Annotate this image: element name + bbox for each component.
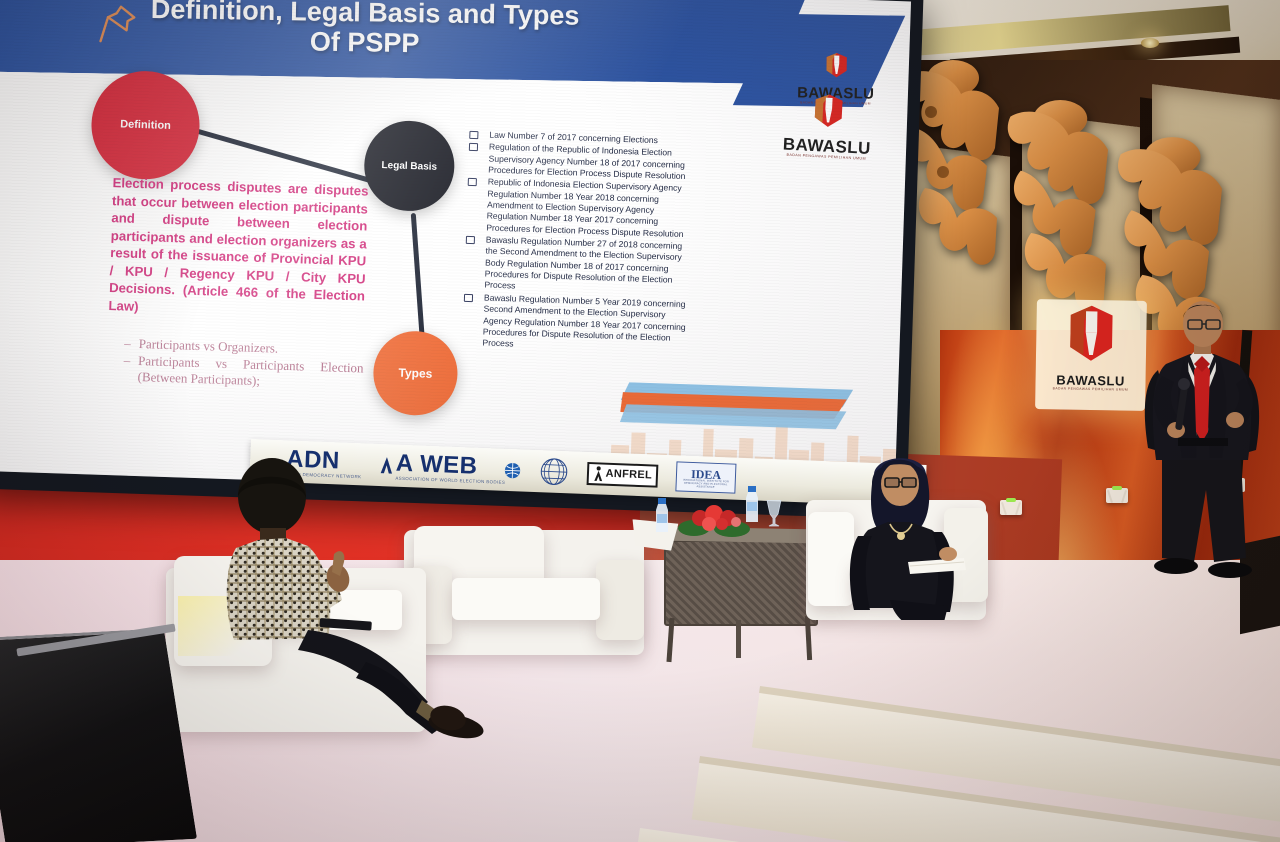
- sponsor-anfrel-text: ANFREL: [605, 468, 652, 481]
- sponsor-idea-subtitle: INTERNATIONAL INSTITUTE FOR DEMOCRACY AN…: [682, 480, 730, 491]
- types-item-text: Participants vs Participants Election (B…: [137, 353, 363, 392]
- connector-legal-to-types: [411, 213, 425, 335]
- types-list-item: – Participants vs Participants Election …: [123, 352, 364, 392]
- drinking-glass: [764, 500, 784, 528]
- monitor-confidence-screen: [0, 628, 197, 842]
- node-legal-basis[interactable]: Legal Basis: [363, 119, 456, 212]
- types-list: – Participants vs Organizers. – Particip…: [123, 336, 365, 394]
- node-types-label: Types: [398, 366, 432, 381]
- panelist-left-figure: [216, 452, 516, 742]
- node-types[interactable]: Types: [372, 330, 459, 417]
- armchair-arm-right: [596, 560, 644, 640]
- anfrel-mark-icon: [592, 465, 604, 482]
- speaker-figure: [1118, 290, 1278, 590]
- water-bottle: [744, 486, 760, 524]
- table-leg: [736, 620, 741, 658]
- sponsor-logo-idea: IDEA INTERNATIONAL INSTITUTE FOR DEMOCRA…: [675, 462, 736, 494]
- stage-photo: BAWASLU BADAN PENGAWAS PEMILIHAN UMUM: [0, 0, 1280, 842]
- sponsor-logo-globe: [538, 456, 569, 487]
- node-legal-basis-label: Legal Basis: [381, 160, 437, 173]
- water-bottle: [654, 498, 670, 534]
- definition-paragraph: Election process disputes are disputes t…: [108, 174, 369, 323]
- types-dash-marker: –: [123, 352, 131, 384]
- legal-basis-item: Bawaslu Regulation Number 5 Year 2019 co…: [460, 292, 692, 356]
- node-definition-label: Definition: [120, 118, 171, 132]
- seated-panelist-left: [216, 452, 516, 742]
- node-definition[interactable]: Definition: [90, 69, 202, 181]
- ceiling-downlight-icon: [1141, 38, 1159, 48]
- legal-basis-list: Law Number 7 of 2017 concerning Election…: [460, 129, 697, 357]
- bawaslu-logo-icon: [815, 51, 857, 82]
- legal-basis-item: Bawaslu Regulation Number 27 of 2018 con…: [462, 234, 694, 298]
- presentation-slide: Definition, Legal Basis and Types Of PSP…: [0, 0, 911, 501]
- standing-speaker: [1118, 290, 1278, 590]
- connector-definition-to-legal: [193, 128, 377, 185]
- arrow-banner-graphic: [620, 374, 862, 442]
- legal-basis-item: Republic of Indonesia Election Superviso…: [464, 176, 696, 240]
- globe-icon: [538, 456, 569, 487]
- wicker-side-table: [664, 540, 818, 626]
- types-dash-marker: –: [124, 336, 131, 352]
- panelist-right-figure: [844, 440, 984, 620]
- projection-screen: Definition, Legal Basis and Types Of PSP…: [0, 0, 911, 501]
- slide-bawaslu-logo-main: BAWASLU BADAN PENGAWAS PEMILIHAN UMUM: [770, 88, 885, 162]
- bawaslu-logo-icon: [800, 89, 858, 134]
- slide-title: Definition, Legal Basis and Types Of PSP…: [134, 0, 595, 61]
- sponsor-logo-anfrel: ANFREL: [586, 461, 658, 487]
- seated-panelist-right: [844, 440, 984, 620]
- par-can-uplight: [1000, 500, 1020, 526]
